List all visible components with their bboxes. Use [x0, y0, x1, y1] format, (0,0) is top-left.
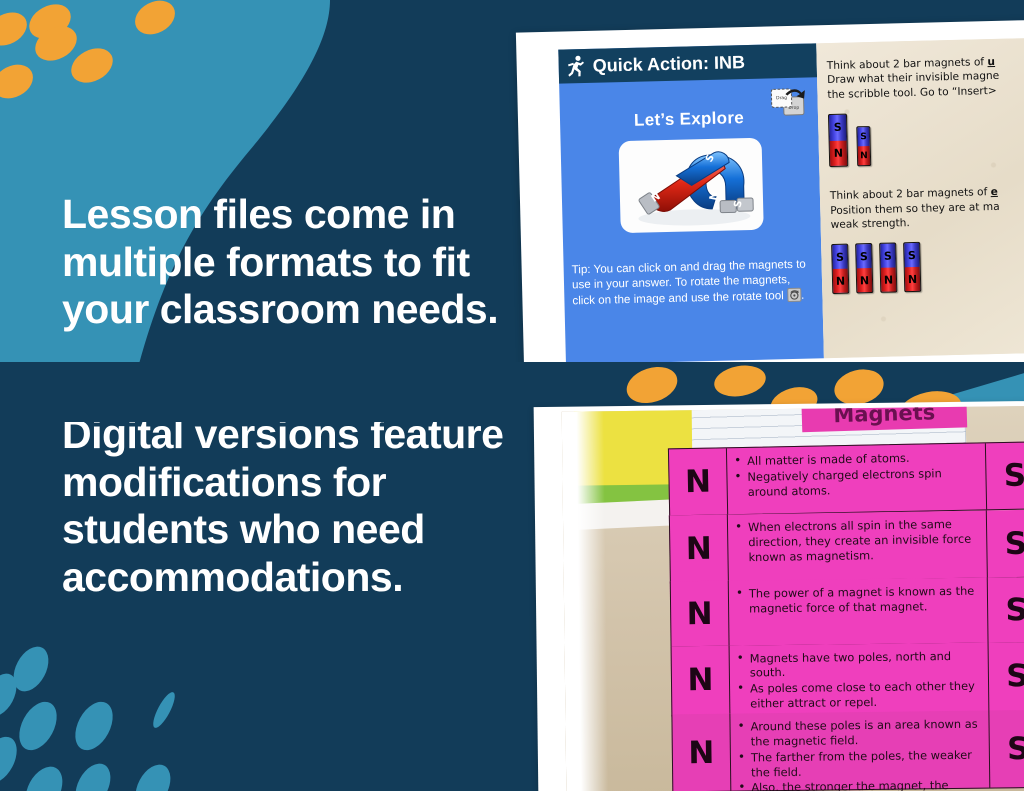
- bar-magnet-north: N: [881, 268, 897, 292]
- pole-south: S: [986, 509, 1024, 577]
- bar-magnet-north: N: [858, 146, 870, 165]
- foldable-row[interactable]: N Around these poles is an area known as…: [671, 710, 1024, 791]
- teal-dot-decoration: [68, 696, 121, 757]
- orange-dot-decoration: [712, 362, 768, 400]
- bar-magnet-south: S: [880, 244, 896, 268]
- pole-north: N: [672, 714, 731, 791]
- bar-magnet-north: N: [833, 269, 849, 293]
- bullet: The farther from the poles, the weaker t…: [737, 747, 981, 780]
- foldable-row-text: Around these poles is an area known as t…: [730, 711, 989, 791]
- slide-canvas: Lesson files come in multiple formats to…: [0, 0, 1024, 791]
- quick-action-header: Quick Action: INB: [558, 43, 817, 83]
- bullet: As poles come close to each other they e…: [736, 679, 980, 712]
- bar-magnet[interactable]: S N: [903, 242, 921, 292]
- quick-action-tip: Tip: You can click on and drag the magne…: [571, 256, 816, 308]
- bullet: Negatively charged electrons spin around…: [733, 466, 978, 500]
- foldable-row[interactable]: N All matter is made of atoms. Negativel…: [668, 442, 1024, 517]
- bar-magnet-south: S: [856, 244, 872, 268]
- pole-north: N: [671, 581, 730, 647]
- lesson-slide-card[interactable]: Quick Action: INB Drop Drag Let’s Explor…: [516, 19, 1024, 377]
- pole-south: S: [988, 641, 1024, 711]
- pole-north: N: [669, 449, 728, 516]
- pole-south: S: [988, 710, 1024, 788]
- teal-dot-decoration: [149, 690, 178, 731]
- pole-north: N: [672, 645, 731, 715]
- teal-dot-decoration: [12, 696, 65, 757]
- foldable-row-text: Magnets have two poles, north and south.…: [730, 642, 989, 714]
- horseshoe-magnet-image: N N S S: [618, 138, 763, 233]
- bar-magnet[interactable]: S N: [856, 126, 871, 166]
- slide-content: Quick Action: INB Drop Drag Let’s Explor…: [558, 37, 1024, 364]
- foldable-row-text: The power of a magnet is known as the ma…: [729, 578, 988, 646]
- bullet: Around these poles is an area known as t…: [736, 717, 980, 750]
- prompt-1-line-1: Think about 2 bar magnets of: [827, 56, 988, 72]
- bullet: Magnets have two poles, north and south.: [736, 648, 980, 681]
- bar-magnet-south: S: [832, 245, 848, 269]
- prompt-2-bold: e: [990, 186, 997, 198]
- bullet: Also, the stronger the magnet, the: [737, 778, 981, 791]
- pole-north: N: [670, 514, 729, 582]
- foldable-flap-stack: N All matter is made of atoms. Negativel…: [668, 446, 1024, 791]
- quick-action-title: Quick Action: INB: [592, 52, 745, 77]
- foldable-row[interactable]: N The power of a magnet is known as the …: [670, 577, 1024, 648]
- svg-text:Drag: Drag: [776, 95, 787, 101]
- bar-magnet[interactable]: S N: [828, 114, 848, 167]
- prompt-2-line-1: Think about 2 bar magnets of: [830, 186, 991, 202]
- prompt-1-magnets: S N S N: [828, 109, 1024, 167]
- foldable-row[interactable]: N When electrons all spin in the same di…: [669, 509, 1024, 583]
- foldable-row[interactable]: N Magnets have two poles, north and sout…: [671, 641, 1024, 716]
- bar-magnet[interactable]: S N: [855, 243, 873, 293]
- orange-dot-decoration: [622, 362, 682, 409]
- bullet: When electrons all spin in the same dire…: [734, 516, 979, 564]
- tip-text: Tip: You can click on and drag the magne…: [572, 258, 806, 307]
- pole-south: S: [985, 443, 1024, 510]
- prompt-2: Think about 2 bar magnets of e Position …: [830, 184, 1024, 233]
- headline-primary: Lesson files come in multiple formats to…: [62, 191, 532, 334]
- bar-magnet[interactable]: S N: [879, 243, 897, 293]
- bullet: The power of a magnet is known as the ma…: [735, 584, 979, 617]
- worksheet-paper-panel: Think about 2 bar magnets of u Draw what…: [816, 37, 1024, 358]
- foldable-row-text: All matter is made of atoms. Negatively …: [727, 444, 986, 515]
- bar-magnet-north: N: [857, 268, 873, 292]
- foldable-row-text: When electrons all spin in the same dire…: [728, 510, 987, 581]
- bar-magnet-north: N: [830, 140, 848, 166]
- teal-dot-decoration: [68, 758, 117, 791]
- foldable-photo: Magnets ©ReaderScience.com N All matter …: [562, 406, 1024, 791]
- foldable-photo-card[interactable]: Magnets ©ReaderScience.com N All matter …: [534, 401, 1024, 791]
- prompt-1-bold: u: [987, 56, 995, 68]
- bar-magnet-north: N: [905, 267, 921, 291]
- prompt-2-magnets: S N S N S N S N: [831, 239, 1024, 294]
- quick-action-panel: Quick Action: INB Drop Drag Let’s Explor…: [558, 43, 824, 364]
- prompt-1: Think about 2 bar magnets of u Draw what…: [827, 54, 1024, 103]
- teal-dot-decoration: [18, 760, 70, 791]
- drag-and-drop-icon: Drop Drag: [768, 86, 809, 123]
- prompt-1-line-2: Draw what their invisible magne: [827, 70, 999, 86]
- prompt-2-line-3: weak strength.: [831, 217, 910, 231]
- teal-dot-decoration: [128, 759, 177, 791]
- bar-magnet-south: S: [829, 115, 847, 141]
- headline-secondary: Digital versions feature modifications f…: [62, 411, 532, 601]
- svg-text:N: N: [708, 191, 720, 201]
- prompt-1-line-3: the scribble tool. Go to “Insert>: [827, 85, 997, 101]
- prompt-2-line-2: Position them so they are at ma: [830, 201, 1000, 217]
- rotate-tool-icon[interactable]: [787, 287, 801, 301]
- bar-magnet-south: S: [904, 243, 920, 267]
- bar-magnet[interactable]: S N: [831, 244, 849, 294]
- bar-magnet-south: S: [857, 127, 869, 146]
- running-person-icon: [566, 55, 586, 77]
- tip-text-tail: .: [801, 288, 805, 301]
- pole-south: S: [987, 577, 1024, 643]
